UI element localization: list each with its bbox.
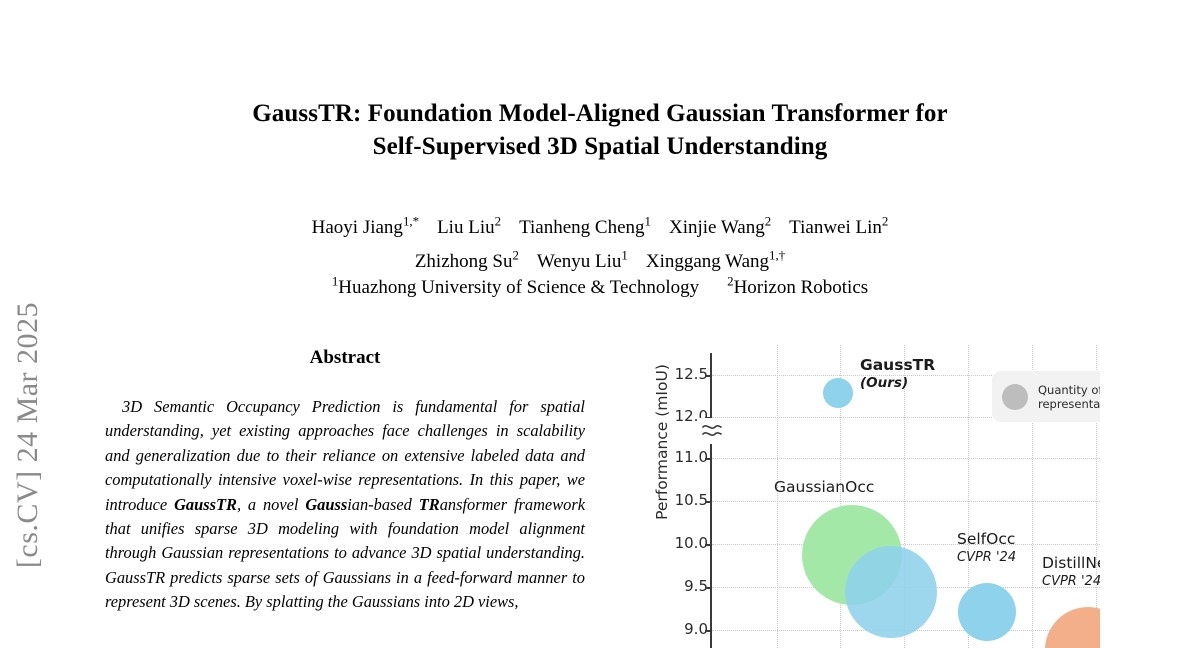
y-axis-tick-mark	[705, 630, 711, 632]
y-axis-tick-label: 10.0	[638, 536, 708, 551]
y-axis-tick-label: 12.0	[638, 409, 708, 424]
gridline-h	[712, 458, 1100, 459]
y-axis-tick-label: 9.0	[638, 622, 708, 637]
title-line-2: Self-Supervised 3D Spatial Understanding	[160, 130, 1040, 163]
affiliation-list: 1Huazhong University of Science & Techno…	[160, 270, 1040, 300]
gridline-h	[712, 544, 1100, 545]
label-gausstr-name: GaussTR	[860, 356, 935, 375]
y-axis-tick-mark	[705, 375, 711, 377]
gridline-h	[712, 501, 1100, 502]
bubble-distillnerf[interactable]	[1045, 607, 1100, 648]
legend-label-line-1: Quantity of scene	[1038, 383, 1100, 397]
y-axis-tick-label: 10.5	[638, 493, 708, 508]
y-axis-tick-mark	[705, 587, 711, 589]
label-gausstr: GaussTR (Ours)	[860, 356, 935, 392]
author-name: Xinjie Wang2	[669, 217, 771, 238]
chart-y-axis-label: Performance (mIoU)	[653, 332, 671, 552]
author-affiliation-marker: 2	[512, 247, 518, 262]
author-name: Tianheng Cheng1	[519, 217, 651, 238]
y-axis-tick-mark	[705, 501, 711, 503]
y-axis-tick-label: 11.0	[638, 450, 708, 465]
y-axis-tick-label: 12.5	[638, 367, 708, 382]
abstract-body: 3D Semantic Occupancy Prediction is fund…	[105, 395, 585, 615]
page-title: GaussTR: Foundation Model-Aligned Gaussi…	[160, 97, 1040, 163]
paper-page: [cs.CV] 24 Mar 2025 GaussTR: Foundation …	[0, 0, 1200, 648]
author-name: Haoyi Jiang1,*	[312, 217, 419, 238]
abstract-heading: Abstract	[105, 347, 585, 369]
label-gaussianocc-name: GaussianOcc	[774, 478, 874, 497]
author-name: Zhizhong Su2	[415, 251, 519, 272]
author-affiliation-marker: 2	[495, 214, 501, 229]
bubble-gausstr-ours[interactable]	[823, 378, 853, 408]
y-axis-tick-mark	[705, 458, 711, 460]
label-distillnerf: DistillNeRF CVPR '24	[1042, 554, 1100, 590]
label-gaussianocc: GaussianOcc	[774, 478, 874, 497]
arxiv-stamp-text: [cs.CV] 24 Mar 2025	[11, 215, 45, 648]
abstract-text: , a novel	[237, 495, 305, 514]
chart-plot-area: GaussTR (Ours) GaussianOcc SelfOcc CVPR …	[712, 345, 1100, 648]
affiliation-marker: 1	[332, 274, 338, 289]
author-name: Xinggang Wang1,†	[646, 251, 785, 272]
author-name: Tianwei Lin2	[789, 217, 888, 238]
author-affiliation-marker: 2	[882, 214, 888, 229]
bubble-chart: Performance (mIoU) 12.512.011.010.510.09…	[620, 345, 1100, 648]
label-selfocc-venue: CVPR '24	[957, 549, 1016, 566]
label-distillnerf-name: DistillNeRF	[1042, 554, 1100, 573]
bubble-unlabeled-blue[interactable]	[845, 546, 937, 638]
legend-bubble-icon	[1002, 384, 1028, 410]
arxiv-stamp: [cs.CV] 24 Mar 2025	[0, 200, 56, 648]
author-affiliation-marker: 2	[765, 214, 771, 229]
abstract-text: ian-based	[347, 495, 419, 514]
label-distillnerf-venue: CVPR '24	[1042, 573, 1100, 590]
affiliation-marker: 2	[727, 274, 733, 289]
author-affiliation-marker: 1,*	[403, 214, 419, 229]
author-affiliation-marker: 1,†	[769, 247, 785, 262]
author-affiliation-marker: 1	[645, 214, 651, 229]
author-affiliation-marker: 1	[621, 247, 627, 262]
y-axis-tick-label: 9.5	[638, 579, 708, 594]
label-selfocc: SelfOcc CVPR '24	[957, 530, 1016, 566]
author-name: Wenyu Liu1	[537, 251, 628, 272]
label-selfocc-name: SelfOcc	[957, 530, 1016, 549]
abstract-bold-term: Gauss	[305, 495, 347, 514]
label-gausstr-venue: (Ours)	[860, 375, 935, 392]
author-list: Haoyi Jiang1,*Liu Liu2Tianheng Cheng1Xin…	[160, 208, 1040, 275]
y-axis-tick-mark	[705, 544, 711, 546]
legend-label-line-2: representations	[1038, 397, 1100, 411]
bubble-selfocc[interactable]	[958, 583, 1016, 641]
author-name: Liu Liu2	[437, 217, 501, 238]
chart-legend: Quantity of scene representations	[992, 371, 1100, 422]
affiliation: 1Huazhong University of Science & Techno…	[332, 277, 699, 298]
title-line-1: GaussTR: Foundation Model-Aligned Gaussi…	[252, 100, 947, 127]
author-row-1: Haoyi Jiang1,*Liu Liu2Tianheng Cheng1Xin…	[160, 208, 1040, 241]
abstract-bold-term: GaussTR	[174, 495, 237, 514]
affiliation: 2Horizon Robotics	[727, 277, 868, 298]
legend-label: Quantity of scene representations	[1038, 383, 1100, 411]
abstract-bold-term: TR	[419, 495, 440, 514]
